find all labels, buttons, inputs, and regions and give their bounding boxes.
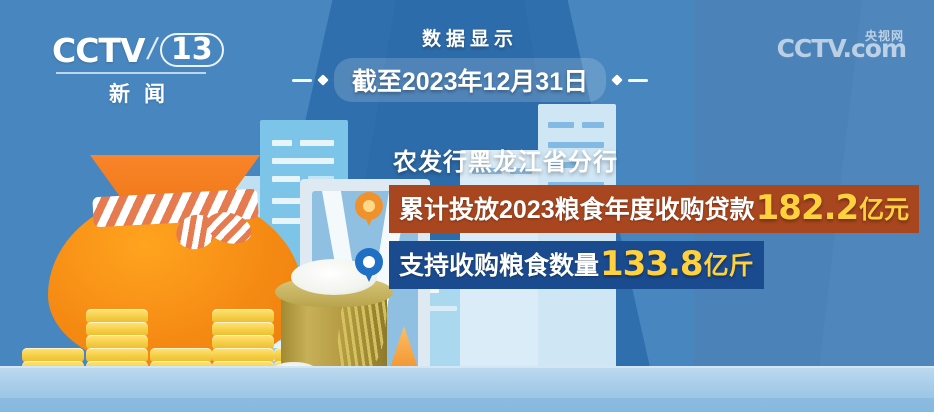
location-pin-blue-icon bbox=[355, 248, 383, 282]
grain-unit: 亿斤 bbox=[704, 246, 754, 282]
gold-coin-stacks bbox=[22, 298, 312, 376]
right-diamond-icon bbox=[611, 74, 622, 85]
info-block: 农发行黑龙江省分行 累计投放2023粮食年度收购贷款 182.2 亿元 支持收购… bbox=[355, 142, 915, 289]
grain-value: 133.8 bbox=[600, 244, 703, 284]
cctv-com-watermark: 央视网 CCTV.com bbox=[777, 36, 906, 61]
date-pill: 截至2023年12月31日 bbox=[334, 58, 606, 102]
left-diamond-icon bbox=[317, 74, 328, 85]
loan-label: 累计投放2023粮食年度收购贷款 bbox=[399, 190, 755, 226]
date-pill-row: 截至2023年12月31日 bbox=[250, 58, 690, 102]
cctv13-logo: CCTV / 13 新闻 bbox=[52, 30, 222, 98]
data-row-grain: 支持收购粮食数量 133.8 亿斤 bbox=[355, 241, 915, 289]
ground-band bbox=[0, 398, 934, 412]
channel-name-cn: 新闻 bbox=[52, 78, 222, 108]
left-dash-icon bbox=[292, 79, 312, 82]
grain-bar: 支持收购粮食数量 133.8 亿斤 bbox=[389, 241, 764, 289]
cctv-logo-text: CCTV bbox=[52, 31, 145, 70]
grain-label: 支持收购粮食数量 bbox=[399, 246, 599, 282]
page-title: 数据显示 bbox=[250, 24, 690, 51]
header-block: 数据显示 截至2023年12月31日 bbox=[250, 24, 690, 102]
channel-number: 13 bbox=[160, 33, 224, 67]
loan-bar: 累计投放2023粮食年度收购贷款 182.2 亿元 bbox=[389, 185, 919, 233]
date-text: 截至2023年12月31日 bbox=[352, 68, 588, 96]
loan-unit: 亿元 bbox=[859, 190, 909, 226]
watermark-cn-text: 央视网 bbox=[865, 27, 904, 44]
logo-slash-icon: / bbox=[144, 33, 160, 67]
loan-value: 182.2 bbox=[756, 188, 859, 228]
location-pin-orange-icon bbox=[355, 192, 383, 226]
bank-branch-heading: 农发行黑龙江省分行 bbox=[393, 142, 915, 177]
data-row-loan: 累计投放2023粮食年度收购贷款 182.2 亿元 bbox=[355, 185, 915, 233]
news-graphic-stage: CCTV / 13 新闻 数据显示 截至2023年12月31日 央视网 CCTV… bbox=[0, 0, 934, 412]
logo-divider bbox=[56, 72, 206, 74]
right-dash-icon bbox=[628, 79, 648, 82]
